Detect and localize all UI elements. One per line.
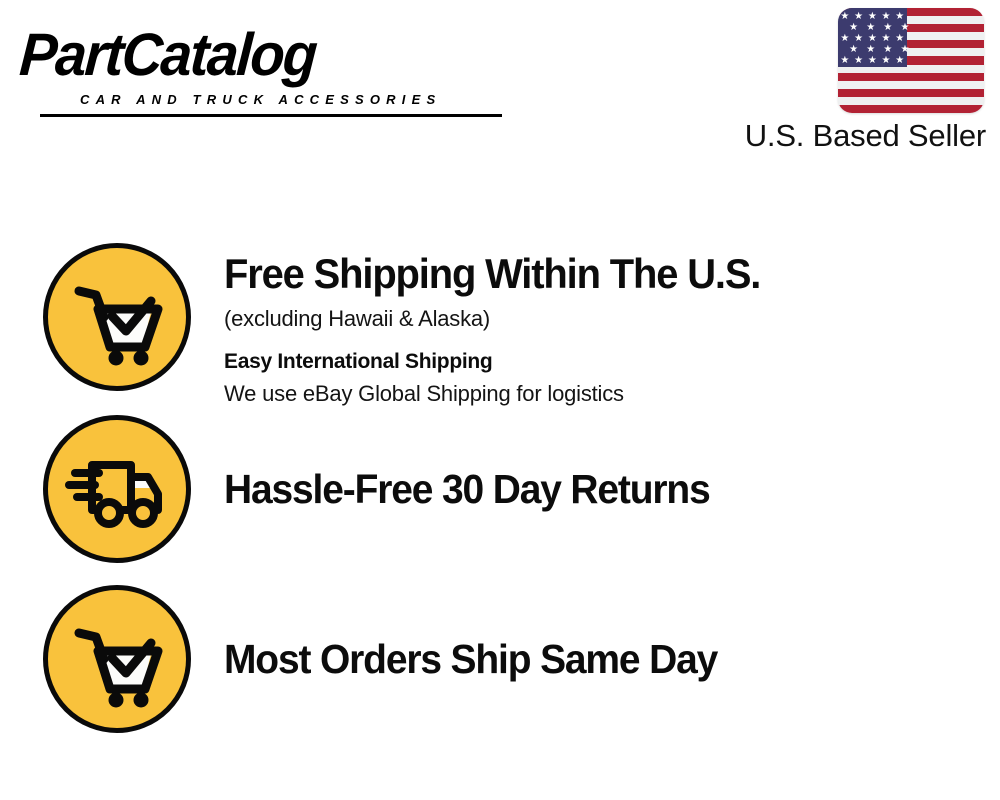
flag-star: ★ [854, 56, 863, 66]
shopping-cart-check-icon [43, 243, 191, 391]
flag-star-row: ★ ★ ★ ★ ★ [838, 56, 907, 66]
banner-header: PartCatalog CAR AND TRUCK ACCESSORIES [0, 0, 1000, 170]
flag-star: ★ [840, 56, 849, 66]
brand-underline-rule [40, 114, 502, 117]
flag-star: ★ [868, 56, 877, 66]
flag-star: ★ [895, 12, 904, 22]
flag-star: ★ [854, 12, 863, 22]
fast-delivery-truck-icon [43, 415, 191, 563]
flag-star: ★ [901, 23, 910, 33]
feature-secondary-title: Easy International Shipping [224, 347, 1000, 377]
feature-row: Most Orders Ship Same Day [0, 585, 1000, 755]
shopping-cart-check-icon [43, 585, 191, 733]
us-flag-icon: ★ ★ ★ ★ ★ ★ ★ ★ ★ ★ ★ ★ [838, 8, 984, 113]
feature-subtext: (excluding Hawaii & Alaska) [224, 303, 1000, 335]
flag-star: ★ [868, 12, 877, 22]
brand-logo[interactable]: PartCatalog CAR AND TRUCK ACCESSORIES [22, 22, 492, 112]
flag-star: ★ [883, 45, 892, 55]
flag-star: ★ [883, 23, 892, 33]
flag-star: ★ [849, 45, 858, 55]
feature-heading: Free Shipping Within The U.S. [224, 249, 961, 299]
flag-star: ★ [895, 56, 904, 66]
flag-star: ★ [882, 56, 891, 66]
feature-row: Free Shipping Within The U.S. (excluding… [0, 243, 1000, 418]
flag-stripe [838, 105, 984, 113]
flag-star: ★ [882, 34, 891, 44]
feature-text-block: Hassle-Free 30 Day Returns [224, 415, 1000, 563]
brand-tagline: CAR AND TRUCK ACCESSORIES [80, 92, 441, 107]
flag-star-row: ★ ★ ★ ★ ★ [838, 34, 907, 44]
brand-wordmark: PartCatalog [18, 22, 464, 88]
flag-star: ★ [866, 23, 875, 33]
feature-heading: Hassle-Free 30 Day Returns [224, 465, 710, 513]
flag-star: ★ [840, 12, 849, 22]
feature-secondary-body: We use eBay Global Shipping for logistic… [224, 378, 1000, 409]
flag-star: ★ [854, 34, 863, 44]
feature-text-block: Free Shipping Within The U.S. (excluding… [224, 243, 1000, 409]
flag-star: ★ [849, 23, 858, 33]
flag-star: ★ [882, 12, 891, 22]
flag-star: ★ [901, 45, 910, 55]
flag-star: ★ [868, 34, 877, 44]
flag-canton: ★ ★ ★ ★ ★ ★ ★ ★ ★ ★ ★ ★ [838, 8, 907, 67]
flag-star-row: ★ ★ ★ ★ ★ [838, 12, 907, 22]
seller-banner-page: PartCatalog CAR AND TRUCK ACCESSORIES [0, 0, 1000, 800]
feature-heading: Most Orders Ship Same Day [224, 635, 717, 683]
flag-star: ★ [840, 34, 849, 44]
feature-text-block: Most Orders Ship Same Day [224, 585, 1000, 733]
us-based-seller-label: U.S. Based Seller [745, 118, 986, 154]
flag-star: ★ [895, 34, 904, 44]
feature-row: Hassle-Free 30 Day Returns [0, 415, 1000, 585]
flag-star: ★ [866, 45, 875, 55]
flag-star-row: ★ ★ ★ ★ [838, 23, 921, 33]
flag-star-row: ★ ★ ★ ★ [838, 45, 921, 55]
us-flag-badge: ★ ★ ★ ★ ★ ★ ★ ★ ★ ★ ★ ★ [838, 8, 984, 113]
